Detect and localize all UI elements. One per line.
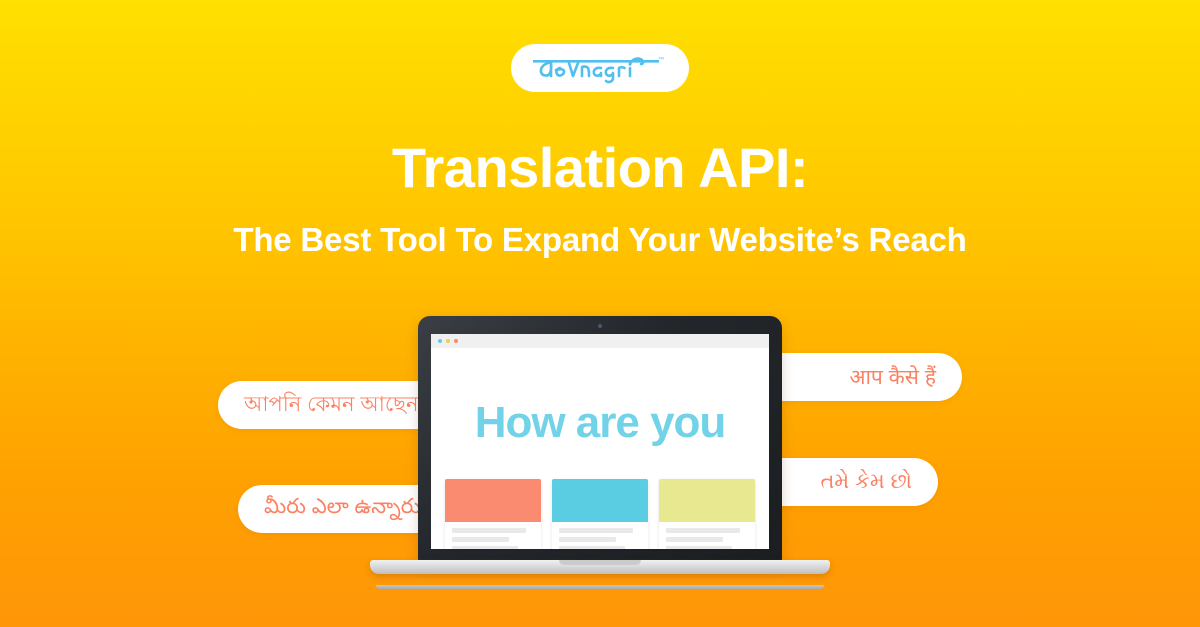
browser-dot-cyan-icon[interactable] — [438, 339, 442, 343]
card-body — [659, 522, 755, 549]
trademark-glyph: ™ — [658, 56, 664, 63]
card-body — [445, 522, 541, 549]
browser-titlebar — [431, 334, 769, 348]
laptop-base-foot — [376, 585, 824, 589]
card-grid — [445, 479, 755, 549]
placeholder-line — [452, 528, 526, 533]
page-title: Translation API: — [0, 139, 1200, 198]
laptop-screen: How are you — [431, 334, 769, 549]
webcam-icon — [598, 324, 602, 328]
card-accent-block — [552, 479, 648, 522]
page-subtitle: The Best Tool To Expand Your Website’s R… — [0, 220, 1200, 260]
browser-dot-yellow-icon[interactable] — [446, 339, 450, 343]
laptop-illustration: How are you — [370, 316, 830, 586]
card-accent-block — [445, 479, 541, 522]
placeholder-line — [666, 528, 740, 533]
content-card[interactable] — [552, 479, 648, 549]
bubble-text-hindi: आप कैसे हैं — [849, 363, 936, 391]
devnagri-logo-icon: ™ — [525, 51, 675, 85]
laptop-base — [370, 560, 830, 574]
placeholder-line — [559, 546, 625, 549]
bubble-text-gujarati: તમે કેમ છો — [820, 470, 912, 494]
card-body — [552, 522, 648, 549]
browser-viewport: How are you — [431, 348, 769, 549]
laptop-base-notch — [559, 560, 641, 565]
placeholder-line — [666, 546, 732, 549]
placeholder-line — [452, 537, 509, 542]
card-accent-block — [659, 479, 755, 522]
content-card[interactable] — [659, 479, 755, 549]
brand-logo-pill[interactable]: ™ devnagri — [511, 44, 689, 92]
placeholder-line — [452, 546, 518, 549]
screen-heading: How are you — [431, 398, 769, 448]
browser-dot-salmon-icon[interactable] — [454, 339, 458, 343]
placeholder-line — [666, 537, 723, 542]
placeholder-line — [559, 528, 633, 533]
laptop-lid: How are you — [418, 316, 782, 563]
placeholder-line — [559, 537, 616, 542]
content-card[interactable] — [445, 479, 541, 549]
banner-root: ™ devnagri Translation API: The Best Too… — [0, 0, 1200, 627]
